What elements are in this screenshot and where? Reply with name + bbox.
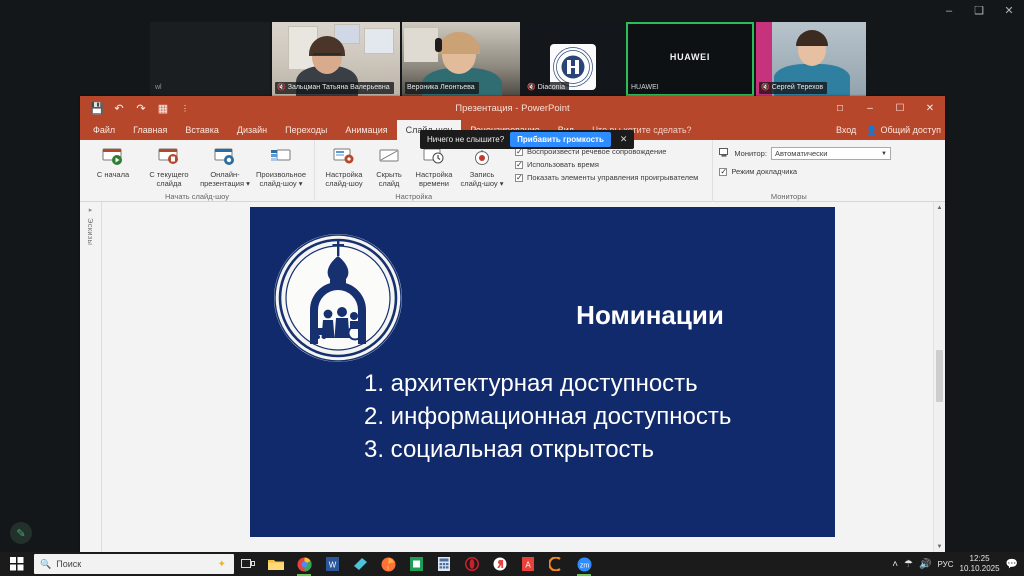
chevron-down-icon: ▼	[881, 151, 887, 157]
ribbon-group-label: Начать слайд-шоу	[80, 191, 314, 202]
mic-muted-icon: 🔇	[277, 83, 286, 93]
toast-message: Ничего не слышите?	[427, 135, 504, 144]
presenter-view-checkbox[interactable]: Режим докладчика	[719, 167, 797, 176]
opera-red-icon[interactable]	[458, 552, 486, 576]
tray-overflow-icon[interactable]: ˄	[892, 559, 898, 570]
svg-text:W: W	[328, 561, 336, 570]
participant-tile-active-speaker[interactable]: HUAWEI HUAWEI	[626, 22, 754, 96]
zoom-annotate-button[interactable]: ✎	[10, 522, 32, 544]
thumbnails-pane-collapsed[interactable]: ▸ Эскизы	[80, 202, 102, 553]
notification-icon[interactable]: 💬	[1006, 559, 1018, 570]
file-explorer-icon[interactable]	[262, 552, 290, 576]
windows-start-icon[interactable]	[0, 552, 34, 576]
from-current-slide-label: С текущего слайда	[140, 170, 198, 188]
svg-text:A: A	[525, 561, 531, 570]
from-current-slide-button[interactable]: С текущего слайда	[142, 143, 196, 188]
monitor-icon	[719, 148, 730, 160]
clock-time: 12:25	[960, 554, 1000, 564]
mic-muted-icon: 🔇	[527, 83, 536, 93]
participant-name: HUAWEI	[631, 83, 659, 93]
tab-transitions[interactable]: Переходы	[276, 120, 336, 140]
redo-icon[interactable]: ↷	[130, 98, 152, 118]
volume-icon[interactable]: 🔊	[919, 559, 931, 570]
ribbon-right-actions: Вход 👤 Общий доступ	[836, 120, 941, 140]
slide-body-list: 1. архитектурная доступность 2. информац…	[364, 367, 819, 466]
scroll-up-icon[interactable]: ▲	[934, 202, 945, 214]
ppt-minimize-button[interactable]: –	[855, 96, 885, 120]
setup-slideshow-icon	[333, 145, 355, 169]
participant-name-badge: Вероника Леонтьева	[405, 82, 479, 94]
hide-slide-icon	[378, 145, 400, 169]
from-beginning-button[interactable]: С начала	[86, 143, 140, 179]
slide-list-item: 1. архитектурная доступность	[364, 367, 819, 400]
slideshow-from-start-icon	[102, 145, 124, 169]
clock-date: 10.10.2025	[960, 564, 1000, 574]
ribbon-tabs: Файл Главная Вставка Дизайн Переходы Ани…	[80, 120, 945, 140]
slide-list-item: 2. информационная доступность	[364, 400, 819, 433]
participant-name-badge: HUAWEI	[629, 82, 663, 94]
ribbon: С начала С текущего слайда Онлайн-презен…	[80, 140, 945, 202]
sign-in-button[interactable]: Вход	[836, 125, 856, 135]
participant-name: Зальцман Татьяна Валерьевна	[288, 83, 390, 93]
participant-name-badge: 🔇 Сергей Терехов	[759, 82, 827, 94]
custom-slideshow-icon	[270, 145, 292, 169]
powerpoint-window: 💾 ↶ ↷ ▦ ⋮ Презентация - PowerPoint ☐ – ☐…	[80, 96, 945, 553]
headset-icon	[435, 38, 442, 52]
participant-tile[interactable]: wl	[150, 22, 270, 96]
calculator-icon[interactable]	[430, 552, 458, 576]
glasses-icon	[313, 53, 341, 58]
tab-insert[interactable]: Вставка	[176, 120, 227, 140]
use-timings-label: Использовать время	[527, 160, 599, 169]
slide-3[interactable]: Номинации 1. архитектурная доступность 2…	[250, 207, 835, 537]
network-icon[interactable]: ☂	[904, 559, 913, 570]
slide-title: Номинации	[485, 300, 815, 331]
participant-tile[interactable]: 🔇 Сергей Терехов	[756, 22, 866, 96]
start-slideshow-icon[interactable]: ▦	[152, 98, 174, 118]
windows-taskbar: 🔍 Поиск ✦ W A zm ˄ ☂ 🔊 РУС 12:25 10.10.2…	[0, 552, 1024, 576]
ppt-document-title: Презентация - PowerPoint	[80, 103, 945, 114]
word-icon[interactable]: W	[318, 552, 346, 576]
quick-access-toolbar: 💾 ↶ ↷ ▦ ⋮	[80, 98, 196, 118]
language-indicator[interactable]: РУС	[937, 560, 953, 569]
thumbnails-pane-label: Эскизы	[86, 218, 95, 245]
tab-design[interactable]: Дизайн	[228, 120, 276, 140]
tab-file[interactable]: Файл	[84, 120, 124, 140]
participant-name: wl	[155, 83, 162, 93]
ppt-restore-button[interactable]: ☐	[885, 96, 915, 120]
setup-slideshow-label: Настройка слайд-шоу	[320, 170, 368, 188]
participant-name-badge: 🔇 Зальцман Татьяна Валерьевна	[275, 82, 394, 94]
ppt-window-controls: ☐ – ☐ ✕	[825, 96, 945, 120]
undo-icon[interactable]: ↶	[108, 98, 130, 118]
slide-list-item: 3. социальная открытость	[364, 433, 819, 466]
ribbon-group-label: Настройка	[315, 191, 512, 202]
zoom-icon[interactable]: zm	[570, 552, 598, 576]
checkbox-box	[515, 161, 523, 169]
zoom-window-controls: – ❑ ✕	[928, 0, 1024, 22]
yandex-icon[interactable]	[486, 552, 514, 576]
system-tray: ˄ ☂ 🔊 РУС 12:25 10.10.2025 💬	[892, 554, 1024, 574]
present-online-label: Онлайн-презентация ▾	[196, 170, 254, 188]
participant-name: Сергей Терехов	[772, 83, 823, 93]
rehearse-timings-label: Настройка времени	[410, 170, 458, 188]
record-slideshow-button[interactable]: Запись слайд-шоу ▾	[459, 143, 505, 188]
participant-tile[interactable]: 🔇 Зальцман Татьяна Валерьевна	[272, 22, 400, 96]
participant-tile[interactable]: 🔇 Diaconia	[522, 22, 624, 96]
monitor-selector-row: Монитор: Автоматически ▼	[719, 147, 891, 160]
search-placeholder: Поиск	[56, 559, 81, 569]
ppt-close-button[interactable]: ✕	[915, 96, 945, 120]
ribbon-group-setup: Настройка слайд-шоу Скрыть слайд Настрой…	[314, 140, 712, 202]
toast-close-icon[interactable]: ✕	[617, 134, 631, 145]
slideshow-from-current-icon	[158, 145, 180, 169]
show-media-controls-label: Показать элементы управления проигрывате…	[527, 173, 698, 182]
share-label: Общий доступ	[881, 125, 941, 135]
editing-area: ▸ Эскизы	[80, 202, 945, 553]
zoom-close-button[interactable]: ✕	[994, 1, 1024, 21]
ribbon-display-options-icon[interactable]: ☐	[825, 96, 855, 120]
hide-slide-label: Скрыть слайд	[368, 170, 410, 188]
opera-icon[interactable]	[542, 552, 570, 576]
scrollbar-thumb[interactable]	[936, 350, 943, 402]
audio-toast-notification: Ничего не слышите? Прибавить громкость ✕	[420, 130, 634, 149]
mic-muted-icon: 🔇	[761, 83, 770, 93]
present-online-button[interactable]: Онлайн-презентация ▾	[198, 143, 252, 188]
from-beginning-label: С начала	[84, 170, 142, 179]
ribbon-group-label: Мониторы	[713, 191, 864, 202]
participant-name-badge: 🔇 Diaconia	[525, 82, 569, 94]
participant-filmstrip: wl 🔇 Зальцман Татьяна Валерьевна	[0, 22, 1024, 96]
ribbon-group-start-slideshow: С начала С текущего слайда Онлайн-презен…	[80, 140, 314, 202]
paint3d-icon[interactable]	[346, 552, 374, 576]
decor-poster	[364, 28, 394, 54]
setup-slideshow-button[interactable]: Настройка слайд-шоу	[321, 143, 367, 188]
participant-name-badge: wl	[153, 82, 166, 94]
checkbox-box	[515, 174, 523, 182]
svg-text:zm: zm	[579, 562, 589, 569]
copilot-sparkle-icon[interactable]: ✦	[218, 559, 226, 570]
monitor-select[interactable]: Автоматически ▼	[771, 147, 891, 160]
participant-tile[interactable]: Вероника Леонтьева	[402, 22, 520, 96]
save-icon[interactable]: 💾	[86, 98, 108, 118]
slide-canvas[interactable]: Номинации 1. архитектурная доступность 2…	[102, 202, 945, 553]
more-icon[interactable]: ⋮	[174, 98, 196, 118]
present-online-icon	[214, 145, 236, 169]
participant-display-name: HUAWEI	[626, 52, 754, 62]
ppt-title-bar: 💾 ↶ ↷ ▦ ⋮ Презентация - PowerPoint ☐ – ☐…	[80, 96, 945, 120]
tab-home[interactable]: Главная	[124, 120, 176, 140]
record-slideshow-label: Запись слайд-шоу ▾	[458, 170, 506, 188]
vertical-scrollbar[interactable]: ▲ ▼	[933, 202, 945, 553]
share-person-icon: 👤	[866, 125, 877, 136]
decor-poster	[404, 28, 438, 62]
participant-name: Diaconia	[538, 83, 565, 93]
monitor-label: Монитор:	[734, 149, 767, 158]
tab-animations[interactable]: Анимация	[336, 120, 396, 140]
checkbox-box	[719, 168, 727, 176]
task-view-icon[interactable]	[234, 552, 262, 576]
hide-slide-button[interactable]: Скрыть слайд	[369, 143, 409, 188]
search-icon: 🔍	[40, 559, 51, 570]
zoom-maximize-button[interactable]: ❑	[964, 1, 994, 21]
rehearse-timings-button[interactable]: Настройка времени	[411, 143, 457, 188]
increase-volume-button[interactable]: Прибавить громкость	[510, 132, 611, 147]
church-accessibility-logo-icon	[272, 232, 404, 364]
taskbar-clock[interactable]: 12:25 10.10.2025	[960, 554, 1000, 574]
zoom-minimize-button[interactable]: –	[934, 1, 964, 21]
monitor-value: Автоматически	[775, 149, 827, 158]
participant-name: Вероника Леонтьева	[407, 83, 475, 93]
screen-root: – ❑ ✕ wl 🔇	[0, 0, 1024, 576]
taskbar-search-input[interactable]: 🔍 Поиск ✦	[34, 554, 234, 574]
firefox-icon[interactable]	[374, 552, 402, 576]
chevron-right-icon[interactable]: ▸	[89, 206, 93, 214]
acrobat-icon[interactable]: A	[514, 552, 542, 576]
chrome-icon[interactable]	[290, 552, 318, 576]
ribbon-group-monitors: Монитор: Автоматически ▼ Режим докладчик…	[712, 140, 864, 202]
excel-icon[interactable]	[402, 552, 430, 576]
presenter-view-label: Режим докладчика	[731, 167, 797, 176]
custom-slideshow-button[interactable]: Произвольное слайд-шоу ▾	[254, 143, 308, 188]
share-button[interactable]: 👤 Общий доступ	[866, 125, 941, 136]
custom-slideshow-label: Произвольное слайд-шоу ▾	[252, 170, 310, 188]
show-media-controls-checkbox[interactable]: Показать элементы управления проигрывате…	[515, 173, 698, 182]
use-timings-checkbox[interactable]: Использовать время	[515, 160, 698, 169]
